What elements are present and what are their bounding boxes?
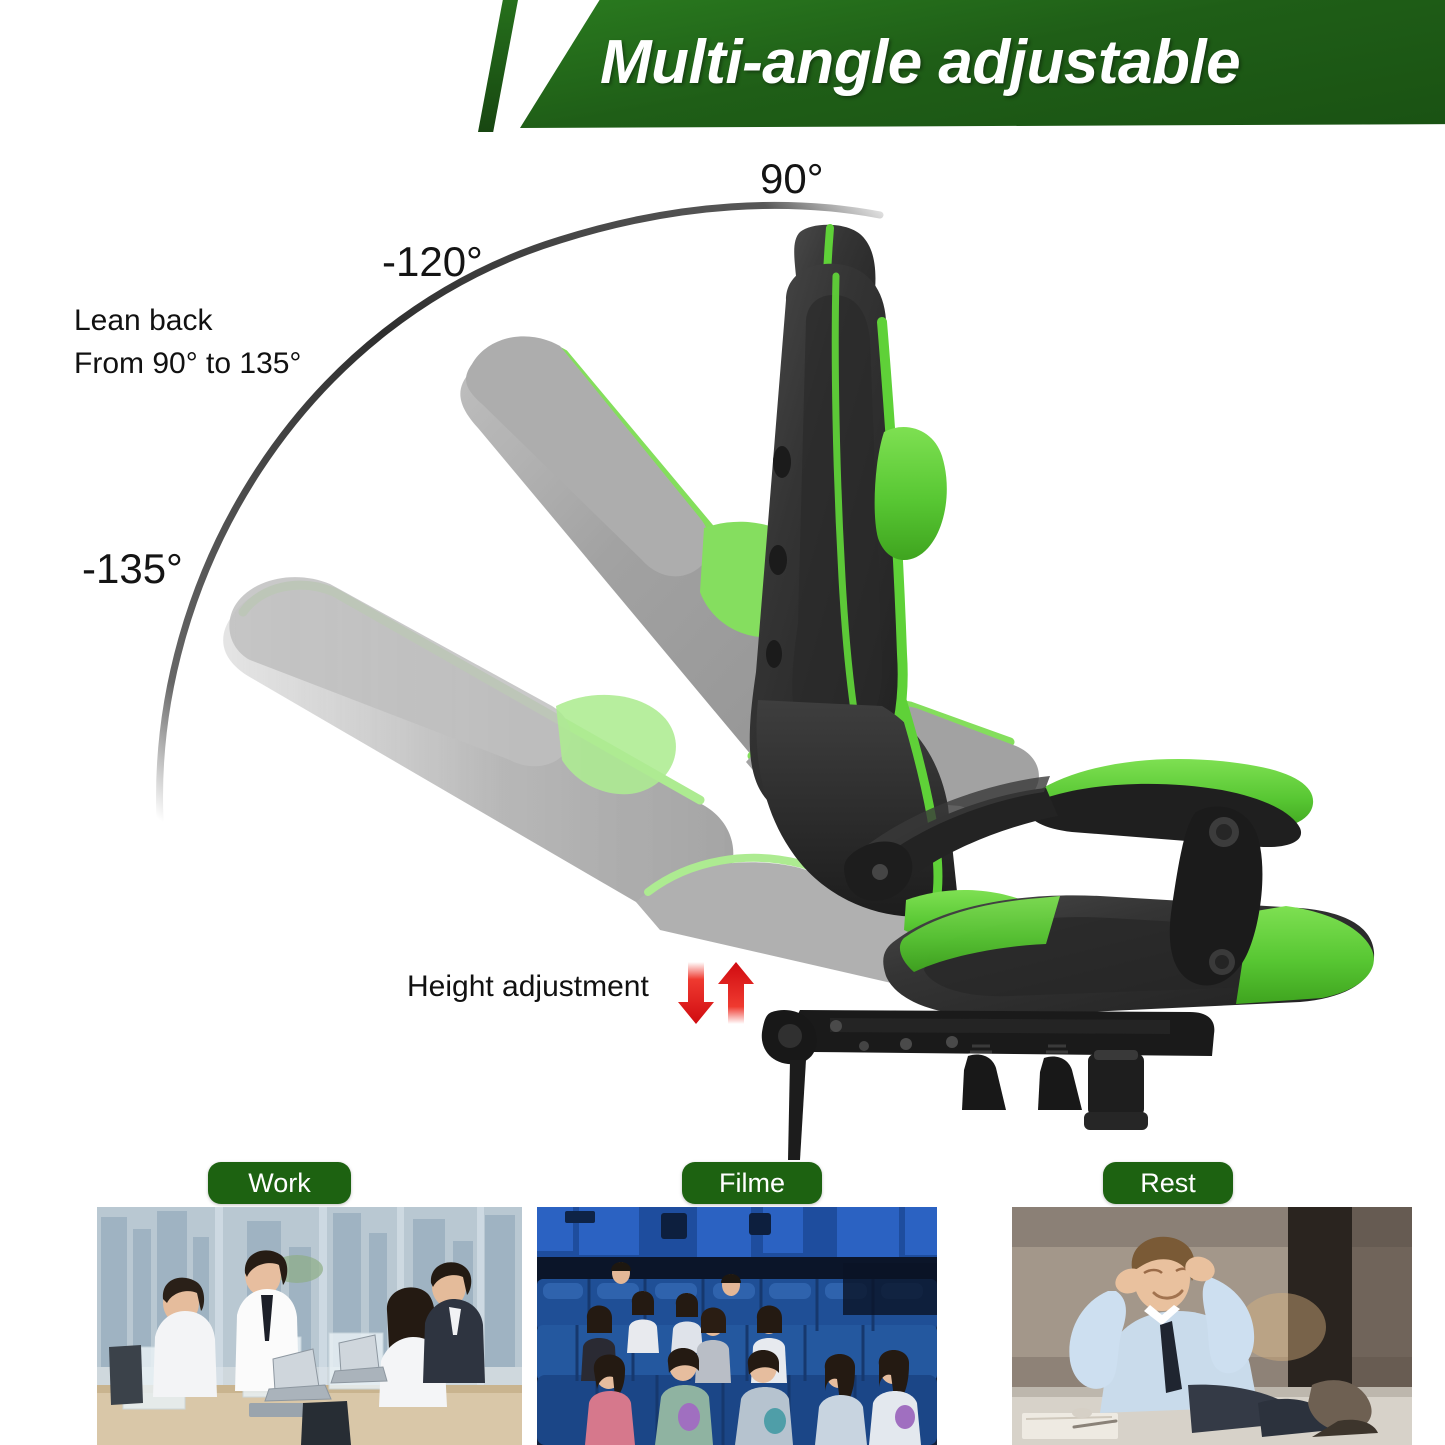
office-meeting-photo <box>97 1207 522 1445</box>
height-adjustment-arrows <box>676 960 756 1026</box>
scenario-label-rest: Rest <box>1103 1162 1233 1204</box>
scenario-work: Work <box>97 1160 522 1445</box>
scenario-rest: Rest <box>1012 1160 1437 1445</box>
scenario-label-work: Work <box>208 1162 351 1204</box>
arrow-up-icon <box>718 962 754 1024</box>
scenario-filme: Filme <box>537 1160 962 1445</box>
main-chair-90 <box>750 225 1374 1160</box>
product-infographic: Multi-angle adjustable 90° -120° -135° L… <box>0 0 1445 1445</box>
cinema-audience-photo <box>537 1207 937 1445</box>
man-relaxing-photo <box>1012 1207 1412 1445</box>
scenario-label-filme: Filme <box>682 1162 822 1204</box>
scenario-strip: Work <box>0 1160 1445 1445</box>
height-adjustment-label: Height adjustment <box>407 970 649 1004</box>
arrow-down-icon <box>678 962 714 1024</box>
